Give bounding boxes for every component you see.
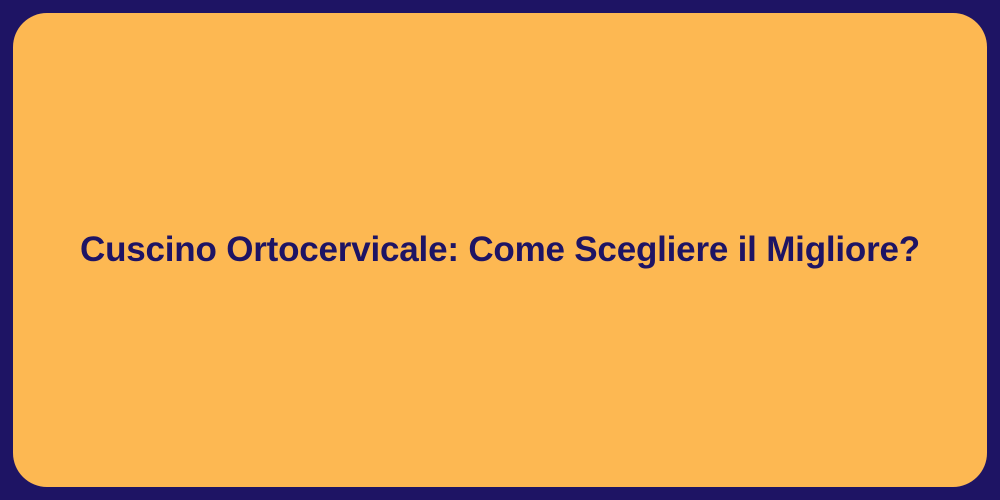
page-title: Cuscino Ortocervicale: Come Scegliere il… [80,228,920,272]
headline-card: Cuscino Ortocervicale: Come Scegliere il… [13,13,987,487]
page-frame: Cuscino Ortocervicale: Come Scegliere il… [0,0,1000,500]
